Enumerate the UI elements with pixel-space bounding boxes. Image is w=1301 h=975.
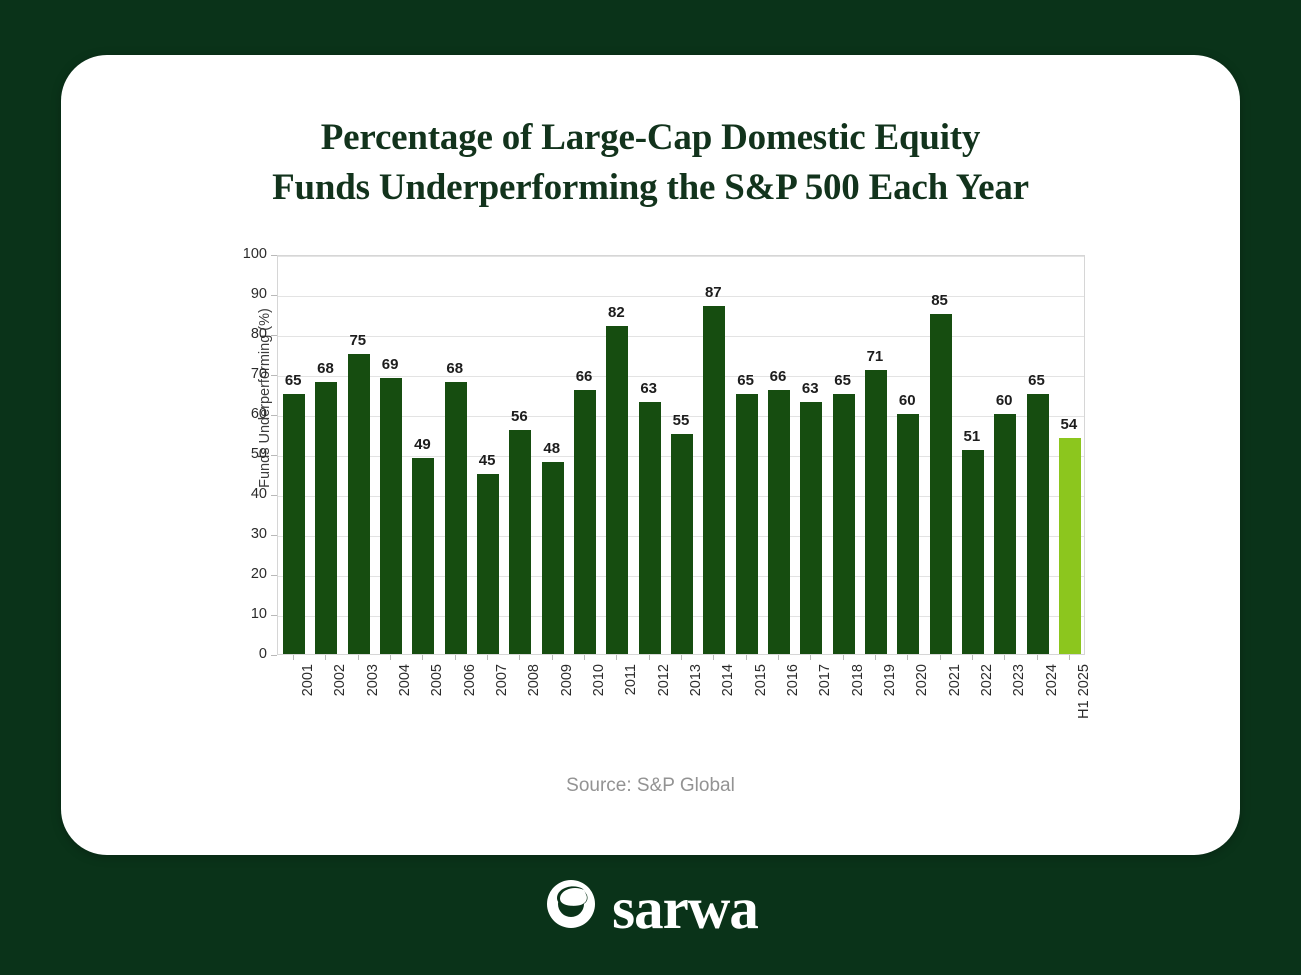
brand-footer: sarwa [0,876,1301,937]
bar-value-label: 68 [302,360,348,377]
y-axis-tick-label: 70 [197,366,267,382]
bar-value-label: 85 [917,292,963,309]
bar-2004[interactable] [380,378,402,654]
y-axis-tick-label: 0 [197,646,267,662]
bar-value-label: 69 [367,356,413,373]
bar-2001[interactable] [283,394,305,654]
y-axis-tick-label: 50 [197,446,267,462]
x-axis-tick-mark [1037,655,1038,660]
y-axis-tick-label: 30 [197,526,267,542]
x-axis-tick-mark [616,655,617,660]
bar-value-label: 65 [820,372,866,389]
bar-2011[interactable] [606,326,628,654]
x-axis-tick-mark [746,655,747,660]
bar-2023[interactable] [994,414,1016,654]
page-title: Percentage of Large-Cap Domestic Equity … [61,113,1240,213]
x-axis-tick-mark [907,655,908,660]
bar-2014[interactable] [703,306,725,654]
y-axis-tick-label: 40 [197,486,267,502]
bar-value-label: 54 [1046,416,1092,433]
x-axis-tick-mark [875,655,876,660]
bar-2008[interactable] [509,430,531,654]
x-axis-tick-mark [422,655,423,660]
bar-2012[interactable] [639,402,661,654]
bar-value-label: 55 [658,412,704,429]
gridline [278,296,1084,297]
bar-2010[interactable] [574,390,596,654]
x-axis-tick-mark [810,655,811,660]
x-axis-tick-mark [940,655,941,660]
bar-2013[interactable] [671,434,693,654]
title-line-1: Percentage of Large-Cap Domestic Equity [61,113,1240,163]
bar-value-label: 45 [464,452,510,469]
bar-value-label: 87 [690,284,736,301]
gridline [278,336,1084,337]
bar-value-label: 75 [335,332,381,349]
bar-value-label: 68 [432,360,478,377]
y-axis-tick-label: 60 [197,406,267,422]
x-axis-tick-mark [1069,655,1070,660]
gridline [278,256,1084,257]
x-axis-tick-mark [681,655,682,660]
bar-2021[interactable] [930,314,952,654]
bar-2009[interactable] [542,462,564,654]
chart-card: Percentage of Large-Cap Domestic Equity … [61,55,1240,855]
x-axis-tick-mark [552,655,553,660]
source-note: Source: S&P Global [61,775,1240,797]
bar-2005[interactable] [412,458,434,654]
bar-2018[interactable] [833,394,855,654]
x-axis-tick-mark [972,655,973,660]
bar-2024[interactable] [1027,394,1049,654]
y-axis-tick-label: 10 [197,606,267,622]
plot-area [277,255,1085,655]
bar-2016[interactable] [768,390,790,654]
bar-H1-2025[interactable] [1059,438,1081,654]
bar-2002[interactable] [315,382,337,654]
bar-value-label: 82 [593,304,639,321]
y-axis-title: Funds Underperforming (%) [257,288,273,508]
x-axis-tick-mark [519,655,520,660]
bar-value-label: 48 [529,440,575,457]
x-axis-tick-mark [293,655,294,660]
x-axis-tick-mark [455,655,456,660]
bar-value-label: 71 [852,348,898,365]
bar-chart-figure: Funds Underperforming (%) 01020304050607… [195,240,1115,760]
bar-value-label: 56 [496,408,542,425]
bar-2020[interactable] [897,414,919,654]
x-axis-tick-mark [358,655,359,660]
bar-2019[interactable] [865,370,887,654]
bar-2007[interactable] [477,474,499,654]
bar-2003[interactable] [348,354,370,654]
gridline [278,376,1084,377]
bar-2015[interactable] [736,394,758,654]
x-axis-tick-mark [1004,655,1005,660]
y-axis-tick-label: 20 [197,566,267,582]
bar-2022[interactable] [962,450,984,654]
bar-2006[interactable] [445,382,467,654]
title-line-2: Funds Underperforming the S&P 500 Each Y… [61,163,1240,213]
bar-value-label: 60 [981,392,1027,409]
bar-value-label: 51 [949,428,995,445]
x-axis-tick-mark [713,655,714,660]
y-axis-tick-label: 100 [197,246,267,262]
x-axis-tick-mark [390,655,391,660]
brand-wordmark: sarwa [612,879,758,938]
x-axis-tick-mark [778,655,779,660]
y-axis-tick-label: 80 [197,326,267,342]
x-axis-tick-mark [649,655,650,660]
bar-value-label: 65 [1014,372,1060,389]
y-axis-tick-mark [271,655,277,656]
bar-value-label: 49 [399,436,445,453]
bar-2017[interactable] [800,402,822,654]
x-axis-tick-mark [843,655,844,660]
bar-value-label: 66 [561,368,607,385]
x-axis-tick-mark [584,655,585,660]
bar-value-label: 60 [884,392,930,409]
sarwa-circle-icon [543,876,599,937]
x-axis-tick-mark [325,655,326,660]
x-axis-tick-mark [487,655,488,660]
bar-value-label: 63 [626,380,672,397]
y-axis-tick-label: 90 [197,286,267,302]
